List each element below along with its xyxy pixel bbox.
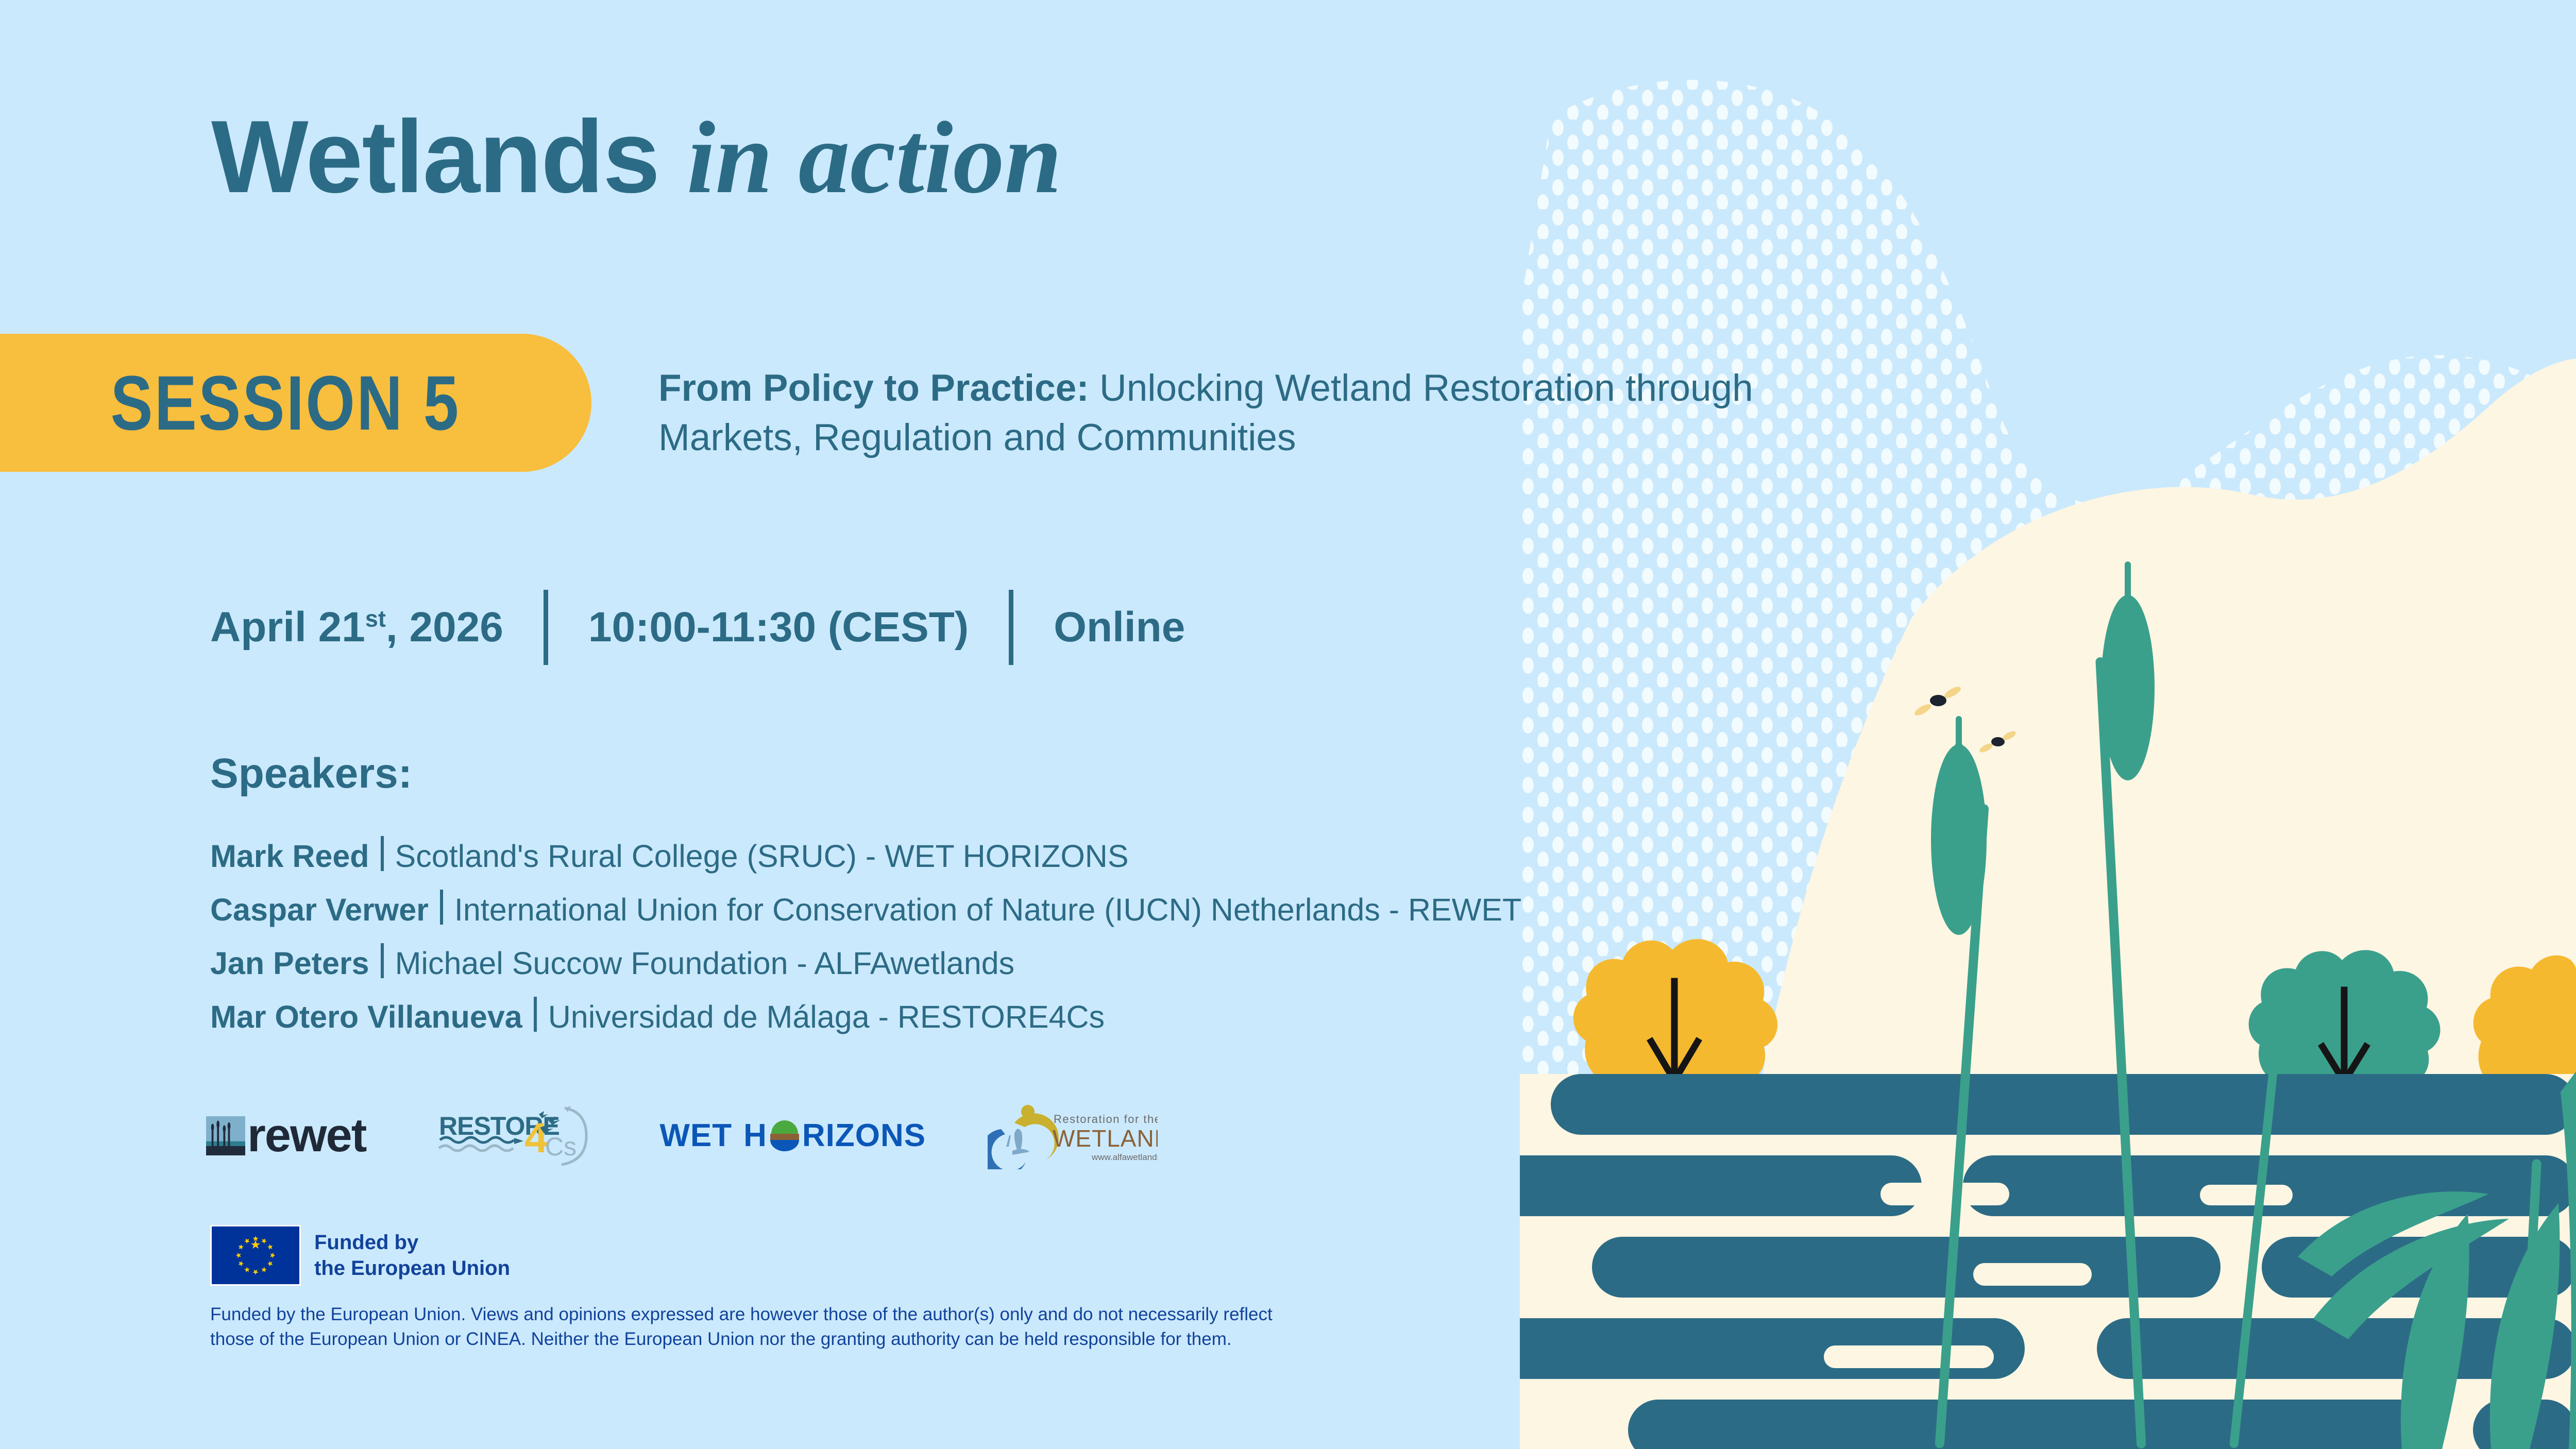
- rewet-wordmark: rewet: [247, 1117, 366, 1155]
- wet-horizons-word-two-a: H: [743, 1120, 767, 1152]
- logo-wet-horizons: WET H RIZONS: [659, 1119, 926, 1152]
- speaker-row: Mark Reed Scotland's Rural College (SRUC…: [210, 832, 1498, 885]
- alfa-tagline: Restoration for the future: [1054, 1113, 1158, 1126]
- alfa-wordmark: WETLANDS: [1053, 1125, 1158, 1152]
- speakers-heading: Speakers:: [210, 749, 412, 798]
- event-time: 10:00-11:30 (CEST): [588, 603, 969, 652]
- speaker-org: Universidad de Málaga - RESTORE4Cs: [548, 999, 1105, 1035]
- eu-funded-line-2: the European Union: [314, 1255, 510, 1281]
- speaker-row: Caspar Verwer International Union for Co…: [210, 885, 1498, 939]
- event-meta-row: April 21st, 2026 10:00-11:30 (CEST) Onli…: [210, 591, 1185, 663]
- speaker-name: Mark Reed: [210, 838, 369, 874]
- logo-rewet: rewet: [206, 1116, 366, 1155]
- speaker-org: International Union for Conservation of …: [454, 892, 1521, 928]
- meta-divider-2: [1009, 590, 1013, 665]
- session-badge: SESSION 5: [0, 334, 591, 472]
- speaker-row: Mar Otero Villanueva Universidad de Mála…: [210, 993, 1498, 1046]
- title-italic: in action: [687, 101, 1062, 215]
- title-main: Wetlands: [211, 99, 659, 214]
- speaker-name: Jan Peters: [210, 945, 369, 981]
- logo-alfa-wetlands: Restoration for the future WETLANDS www.…: [988, 1102, 1158, 1169]
- speaker-divider-icon: [534, 997, 537, 1032]
- event-format: Online: [1054, 603, 1185, 652]
- speaker-name: Caspar Verwer: [210, 892, 429, 928]
- event-date-ordinal: st: [365, 606, 386, 632]
- speaker-name: Mar Otero Villanueva: [210, 999, 522, 1035]
- wet-horizons-word-one: WET: [659, 1120, 732, 1152]
- speakers-list: Mark Reed Scotland's Rural College (SRUC…: [210, 832, 1498, 1046]
- eu-funded-line-1: Funded by: [314, 1230, 510, 1255]
- speaker-divider-icon: [440, 890, 443, 925]
- speaker-org: Scotland's Rural College (SRUC) - WET HO…: [395, 838, 1129, 874]
- eu-flag-icon: [210, 1225, 301, 1286]
- event-date-prefix: April 21: [210, 604, 365, 651]
- restore4cs-logo-icon: RESTORE 4 Cs: [438, 1103, 592, 1169]
- eu-funding-block: Funded by the European Union: [210, 1225, 510, 1286]
- event-date: April 21st, 2026: [210, 603, 503, 652]
- event-date-suffix: , 2026: [386, 604, 503, 651]
- session-subtitle: From Policy to Practice: Unlocking Wetla…: [658, 364, 1782, 463]
- webinar-poster: Wetlands in action SESSION 5 From Policy…: [0, 0, 2576, 1449]
- logo-restore4cs: RESTORE 4 Cs: [438, 1103, 592, 1169]
- rewet-mark-icon: [206, 1116, 245, 1155]
- subtitle-bold-part: From Policy to Practice:: [658, 367, 1089, 409]
- restore4cs-suffix: Cs: [545, 1132, 577, 1161]
- eu-funded-text: Funded by the European Union: [314, 1230, 510, 1282]
- alfa-url: www.alfawetlands.eu: [1091, 1152, 1158, 1162]
- partner-logos: rewet RESTORE 4 Cs: [206, 1102, 1158, 1169]
- poster-content: Wetlands in action SESSION 5 From Policy…: [0, 0, 1803, 1449]
- speaker-org: Michael Succow Foundation - ALFAwetlands: [395, 945, 1015, 981]
- eu-disclaimer: Funded by the European Union. Views and …: [210, 1302, 1297, 1351]
- horizon-sun-icon: [768, 1119, 801, 1152]
- alfa-wetlands-logo-icon: Restoration for the future WETLANDS www.…: [988, 1102, 1158, 1169]
- session-badge-label: SESSION 5: [111, 359, 461, 448]
- page-title: Wetlands in action: [211, 106, 1062, 210]
- speaker-divider-icon: [381, 836, 384, 871]
- meta-divider-1: [544, 590, 548, 665]
- speaker-row: Jan Peters Michael Succow Foundation - A…: [210, 939, 1498, 993]
- speaker-divider-icon: [381, 943, 384, 978]
- wet-horizons-word-two-b: RIZONS: [802, 1120, 926, 1152]
